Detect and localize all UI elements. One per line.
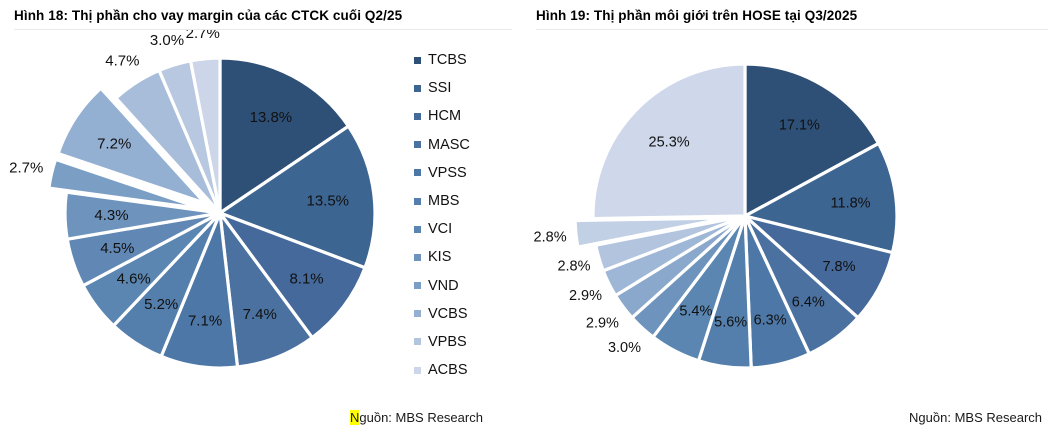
legend-swatch-icon [414,57,421,64]
source-text: guồn: MBS Research [359,410,483,425]
pie-label-ssi: 13.5% [306,192,349,209]
legend-fig18: TCBSSSIHCMMASCVPSSMBSVCIKISVNDVCBSVPBSAC… [414,46,470,384]
legend-swatch-icon [414,282,421,289]
pie-label-vci: 4.6% [117,271,151,288]
pie-label-acbs: 4.7% [105,53,139,70]
pie-label-vcbs: 2.7% [9,160,43,177]
figure-panel-18: Hình 18: Thị phần cho vay margin của các… [0,0,528,433]
legend-swatch-icon [414,85,421,92]
legend-item-label: ACBS [428,362,468,378]
pie-label-masc: 7.4% [243,306,277,323]
pie-label-vci: 6.4% [792,295,825,311]
legend-item-label: MBS [428,193,459,209]
legend-item-ssi[interactable]: SSI [414,74,470,102]
page-title-fig18: Hình 18: Thị phần cho vay margin của các… [14,8,402,23]
pie-label-ssi: 11.8% [831,196,871,212]
pie-label-masc: 3.0% [608,340,641,356]
page-title-fig19: Hình 19: Thị phần môi giới trên HOSE tại… [536,8,857,23]
legend-swatch-icon [414,310,421,317]
figure-panel-19: Hình 19: Thị phần môi giới trên HOSE tại… [528,0,1056,433]
pie-label-mbs: 5.6% [714,314,747,330]
legend-item-mbs[interactable]: MBS [414,187,470,215]
legend-item-label: SSI [428,80,451,96]
pie-label-vpbs: 7.2% [97,136,131,153]
legend-swatch-icon [414,254,421,261]
source-note-fig19: Nguồn: MBS Research [909,410,1042,425]
pie-label-fpts: 2.8% [557,258,590,274]
legend-item-label: VND [428,278,459,294]
legend-item-label: KIS [428,249,451,265]
legend-swatch-icon [414,226,421,233]
legend-item-acbs[interactable]: ACBS [414,356,470,384]
figures-page: Hình 18: Thị phần cho vay margin của các… [0,0,1056,433]
source-note-fig18: Nguồn: MBS Research [350,410,483,425]
pie-svg-fig18: 13.8%13.5%8.1%7.4%7.1%5.2%4.6%4.5%4.3%2.… [0,30,420,398]
legend-item-vpss[interactable]: VPSS [414,159,470,187]
pie-chart-fig19: 17.1%11.8%7.8%6.4%6.3%5.6%5.4%3.0%2.9%2.… [528,30,1056,398]
legend-item-kis[interactable]: KIS [414,243,470,271]
legend-swatch-icon [414,198,421,205]
pie-label-kis: 4.5% [100,240,134,257]
pie-label-mbs: 5.2% [144,296,178,313]
legend-item-label: MASC [428,137,470,153]
legend-item-label: TCBS [428,52,467,68]
legend-item-label: VPSS [428,165,467,181]
legend-item-hcm[interactable]: HCM [414,102,470,130]
pie-label-vpss: 7.1% [188,312,222,329]
legend-swatch-icon [414,169,421,176]
pie-label-vnd: 5.4% [679,303,712,319]
pie-label-khác: 25.3% [649,134,690,150]
legend-item-vcbs[interactable]: VCBS [414,300,470,328]
legend-item-vci[interactable]: VCI [414,215,470,243]
pie-label-hcm: 8.1% [289,270,323,287]
legend-item-label: VCI [428,221,452,237]
pie-label-vcbs: 2.9% [569,288,602,304]
pie-label-vpss: 17.1% [779,118,820,134]
pie-label-kis: 2.9% [586,316,619,332]
legend-item-label: HCM [428,108,461,124]
source-highlight: N [350,410,359,425]
legend-swatch-icon [414,141,421,148]
pie-label-slice13: 3.0% [150,32,184,49]
legend-item-tcbs[interactable]: TCBS [414,46,470,74]
pie-label-vpbs: 2.8% [534,230,567,246]
legend-swatch-icon [414,113,421,120]
legend-item-vpbs[interactable]: VPBS [414,328,470,356]
pie-label-tcbs: 13.8% [250,109,293,126]
legend-item-masc[interactable]: MASC [414,131,470,159]
legend-item-vnd[interactable]: VND [414,272,470,300]
pie-label-hcm: 6.3% [754,312,787,328]
legend-swatch-icon [414,367,421,374]
pie-label-tcbs: 7.8% [822,259,855,275]
pie-svg-fig19: 17.1%11.8%7.8%6.4%6.3%5.6%5.4%3.0%2.9%2.… [528,30,968,398]
pie-label-slice14: 2.7% [186,30,220,42]
legend-item-label: VCBS [428,306,468,322]
legend-item-label: VPBS [428,334,467,350]
legend-swatch-icon [414,338,421,345]
pie-label-vnd: 4.3% [94,207,128,224]
